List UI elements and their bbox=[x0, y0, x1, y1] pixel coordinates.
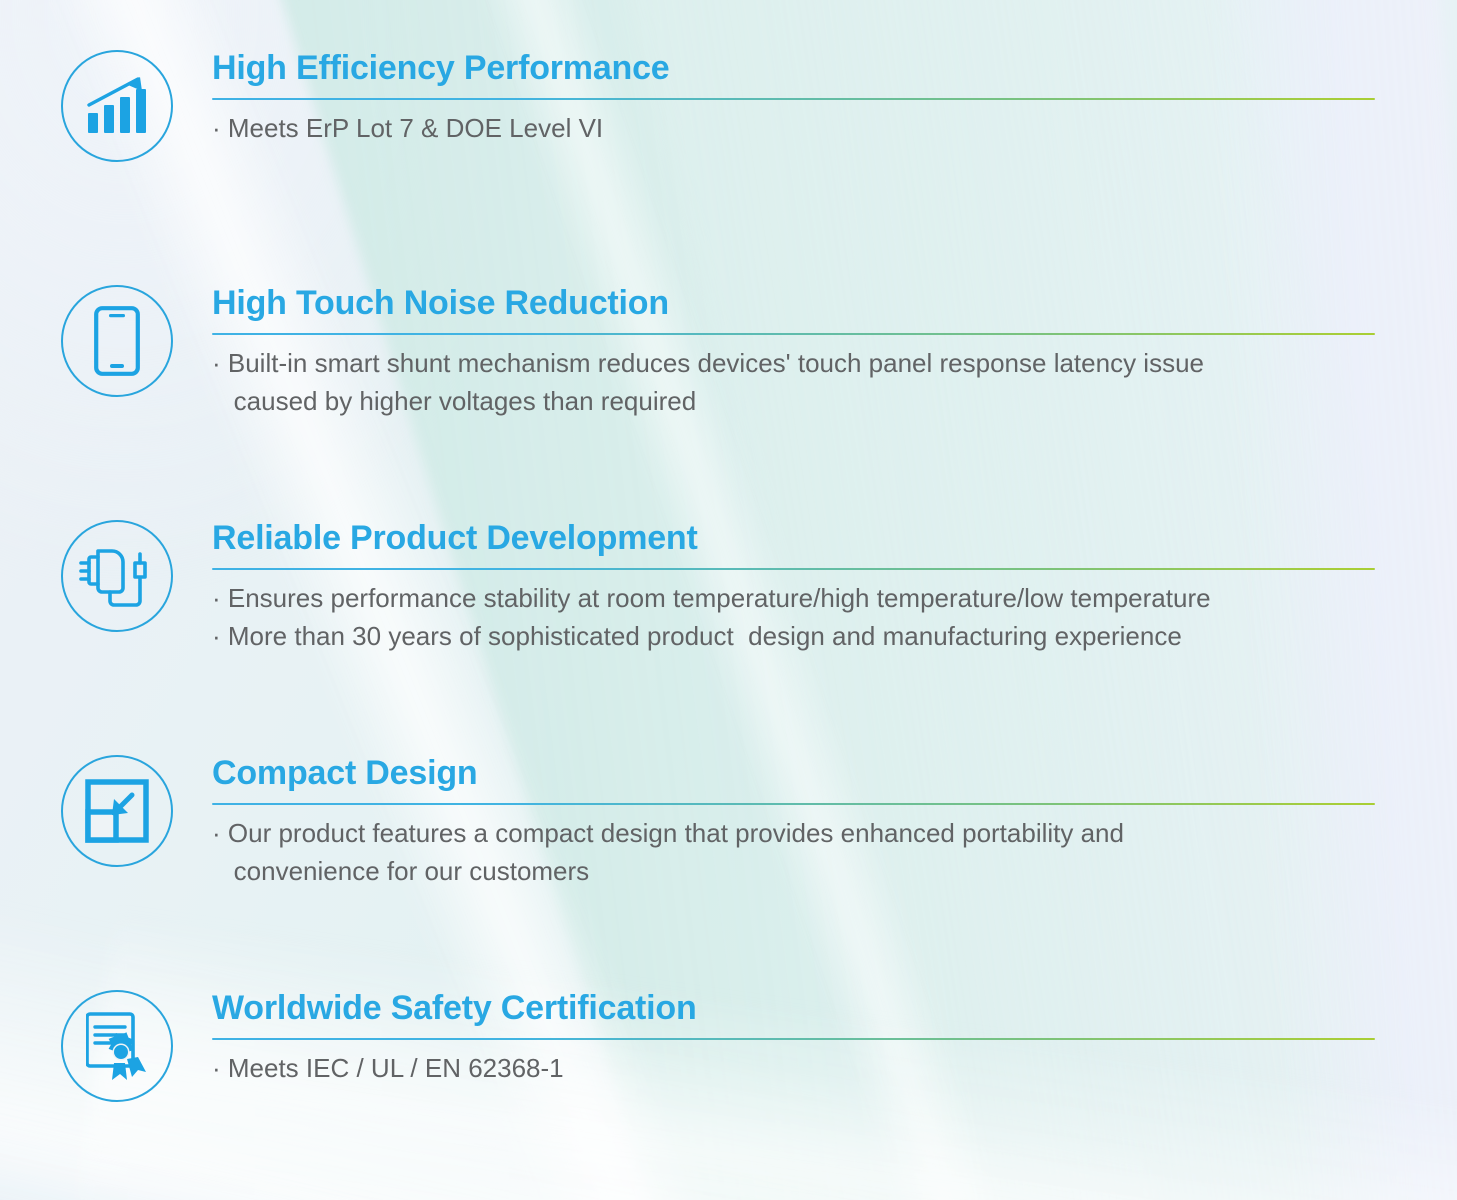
feature-item-compact-design: Compact Design · Our product features a … bbox=[0, 755, 1457, 891]
smartphone-icon bbox=[61, 285, 173, 397]
feature-bullet: caused by higher voltages than required bbox=[212, 383, 1375, 421]
feature-body: Compact Design · Our product features a … bbox=[212, 755, 1457, 891]
feature-bullets: · Our product features a compact design … bbox=[212, 815, 1375, 890]
feature-divider bbox=[212, 1038, 1375, 1041]
feature-bullet: · Ensures performance stability at room … bbox=[212, 580, 1375, 618]
feature-icon-wrap bbox=[58, 285, 176, 397]
feature-item-reliable-product-development: Reliable Product Development · Ensures p… bbox=[0, 520, 1457, 656]
feature-divider bbox=[212, 98, 1375, 101]
feature-icon-wrap bbox=[58, 990, 176, 1102]
feature-bullet: · Meets IEC / UL / EN 62368-1 bbox=[212, 1050, 1375, 1088]
feature-icon-wrap bbox=[58, 50, 176, 162]
feature-body: High Efficiency Performance · Meets ErP … bbox=[212, 50, 1457, 148]
power-adapter-icon bbox=[61, 520, 173, 632]
feature-divider bbox=[212, 333, 1375, 336]
feature-body: Worldwide Safety Certification · Meets I… bbox=[212, 990, 1457, 1088]
feature-bullets: · Ensures performance stability at room … bbox=[212, 580, 1375, 655]
feature-title: Compact Design bbox=[212, 755, 1375, 792]
feature-highlights-page: High Efficiency Performance · Meets ErP … bbox=[0, 0, 1457, 1200]
feature-body: High Touch Noise Reduction · Built-in sm… bbox=[212, 285, 1457, 421]
feature-bullets: · Built-in smart shunt mechanism reduces… bbox=[212, 345, 1375, 420]
feature-item-worldwide-safety-certification: Worldwide Safety Certification · Meets I… bbox=[0, 990, 1457, 1102]
feature-icon-wrap bbox=[58, 755, 176, 867]
feature-bullet: · More than 30 years of sophisticated pr… bbox=[212, 618, 1375, 656]
feature-title: Reliable Product Development bbox=[212, 520, 1375, 557]
feature-bullet: · Meets ErP Lot 7 & DOE Level VI bbox=[212, 110, 1375, 148]
feature-divider bbox=[212, 803, 1375, 806]
feature-title: High Touch Noise Reduction bbox=[212, 285, 1375, 322]
feature-title: Worldwide Safety Certification bbox=[212, 990, 1375, 1027]
feature-item-high-efficiency-performance: High Efficiency Performance · Meets ErP … bbox=[0, 50, 1457, 162]
feature-body: Reliable Product Development · Ensures p… bbox=[212, 520, 1457, 656]
feature-item-high-touch-noise-reduction: High Touch Noise Reduction · Built-in sm… bbox=[0, 285, 1457, 421]
feature-icon-wrap bbox=[58, 520, 176, 632]
compact-resize-icon bbox=[61, 755, 173, 867]
certificate-seal-icon bbox=[61, 990, 173, 1102]
feature-title: High Efficiency Performance bbox=[212, 50, 1375, 87]
feature-bullets: · Meets ErP Lot 7 & DOE Level VI bbox=[212, 110, 1375, 148]
feature-divider bbox=[212, 568, 1375, 571]
feature-bullet: · Our product features a compact design … bbox=[212, 815, 1375, 853]
bar-chart-growth-icon bbox=[61, 50, 173, 162]
feature-bullets: · Meets IEC / UL / EN 62368-1 bbox=[212, 1050, 1375, 1088]
feature-bullet: convenience for our customers bbox=[212, 853, 1375, 891]
feature-bullet: · Built-in smart shunt mechanism reduces… bbox=[212, 345, 1375, 383]
